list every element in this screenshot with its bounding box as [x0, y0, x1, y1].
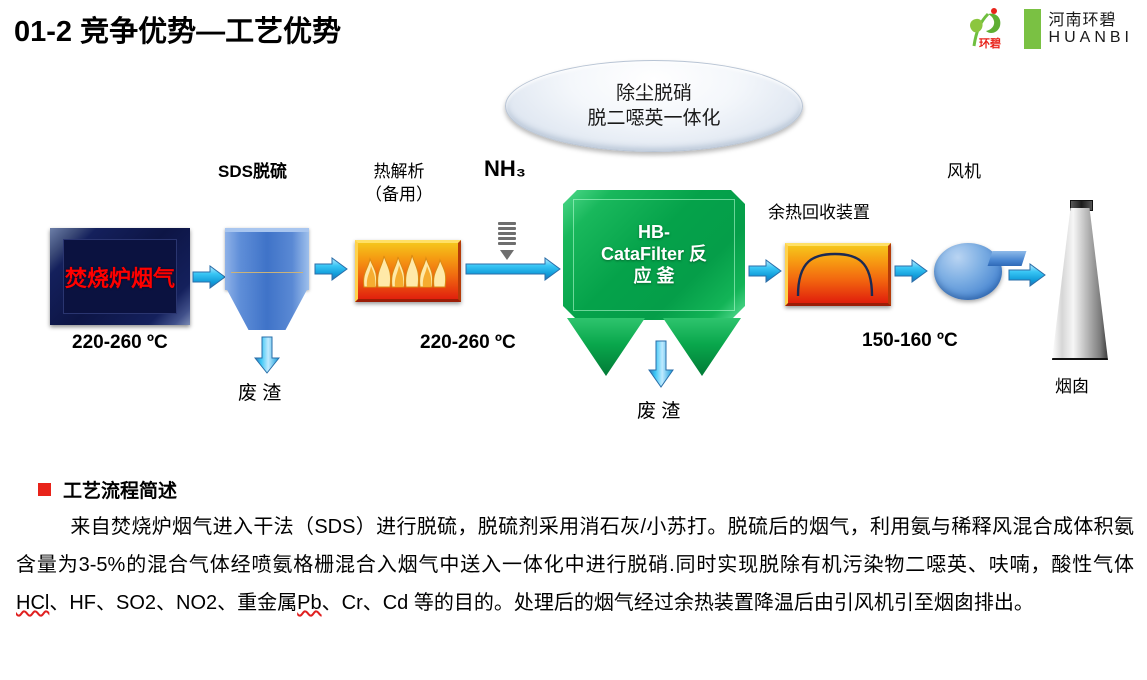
flow-arrow-3 — [465, 256, 561, 282]
process-description-heading: 工艺流程简述 — [38, 476, 177, 503]
logo-wordmark: 河南环碧 HUANBI — [1049, 12, 1133, 47]
logo-name-cn: 河南环碧 — [1049, 12, 1133, 29]
label-waste-1: 废 渣 — [238, 378, 281, 405]
heat-coil-icon — [788, 246, 882, 297]
company-logo: 环碧 河南环碧 HUANBI — [964, 6, 1133, 52]
reactor-hopper-right — [663, 318, 741, 376]
logo-name-en: HUANBI — [1049, 29, 1133, 46]
callout-bubble: 除尘脱硝 脱二噁英一体化 — [505, 60, 803, 152]
reactor-hopper-left — [567, 318, 645, 376]
slide-canvas: 01-2 竞争优势—工艺优势 环碧 河南环碧 HUANBI 除尘脱硝 脱二噁英一… — [0, 0, 1147, 680]
label-pyrolysis-line1: 热解析 — [360, 157, 438, 182]
flow-arrow-1 — [192, 264, 226, 290]
flow-arrow-2 — [314, 256, 348, 282]
bullet-heading-label: 工艺流程简述 — [63, 476, 177, 503]
sds-desulfurization-silo — [225, 228, 309, 333]
incinerator-flue-gas-box: 焚烧炉烟气 — [50, 228, 190, 325]
temperature-outlet: 150-160 ºC — [862, 330, 958, 352]
paragraph-misspelled-pb: Pb — [297, 592, 321, 614]
silo-body — [225, 228, 309, 290]
label-sds: SDS脱硫 — [218, 157, 287, 182]
waste-arrow-1 — [254, 336, 280, 374]
bullet-square-icon — [38, 483, 51, 496]
heat-recovery-unit — [785, 243, 891, 306]
temperature-mid: 220-260 ºC — [420, 332, 516, 354]
flow-arrow-5 — [894, 258, 928, 284]
label-stack: 烟囱 — [1055, 372, 1089, 397]
huanbi-leaf-icon: 环碧 — [964, 6, 1016, 52]
logo-green-bar — [1024, 9, 1041, 49]
svg-text:环碧: 环碧 — [979, 36, 1001, 50]
reactor-label: HB- CataFilter 反 应 釜 — [563, 190, 745, 320]
chimney-body — [1052, 208, 1108, 360]
page-title: 01-2 竞争优势—工艺优势 — [14, 8, 341, 50]
thermal-desorption-unit — [355, 240, 461, 302]
chimney-stack — [1052, 200, 1108, 358]
callout-line-2: 脱二噁英一体化 — [587, 106, 720, 131]
process-description-paragraph: 来自焚烧炉烟气进入干法（SDS）进行脱硫，脱硫剂采用消石灰/小苏打。脱硫后的烟气… — [16, 508, 1134, 622]
flame-icon — [358, 243, 452, 293]
label-pyrolysis-line2: （备用） — [360, 180, 438, 205]
flow-arrow-4 — [748, 258, 782, 284]
paragraph-part-3: 、HF、SO2、NO2、重金属 — [49, 592, 297, 614]
label-heat-recovery: 余热回收装置 — [768, 198, 870, 223]
label-nh3: NH₃ — [484, 156, 526, 182]
reactor-label-line2: CataFilter 反 — [601, 244, 707, 266]
paragraph-part-5: 、Cr、Cd 等的目的。处理后的烟气经过余热装置降温后由引风机引至烟囱排出。 — [322, 592, 1034, 614]
callout-line-1: 除尘脱硝 — [616, 81, 692, 106]
reactor-label-line3: 应 釜 — [601, 266, 707, 288]
temperature-inlet: 220-260 ºC — [72, 332, 168, 354]
reactor-label-line1: HB- — [601, 222, 707, 244]
label-waste-2: 废 渣 — [637, 396, 680, 423]
label-fan: 风机 — [947, 157, 981, 182]
paragraph-part-1: 来自焚烧炉烟气进入干法（SDS）进行脱硫，脱硫剂采用消石灰/小苏打。脱硫后的烟气… — [16, 516, 1134, 576]
paragraph-misspelled-hcl: HCl — [16, 592, 49, 614]
flow-arrow-6 — [1008, 262, 1046, 288]
waste-arrow-2 — [648, 340, 674, 388]
incinerator-label: 焚烧炉烟气 — [50, 228, 190, 325]
silo-cone — [225, 286, 309, 330]
